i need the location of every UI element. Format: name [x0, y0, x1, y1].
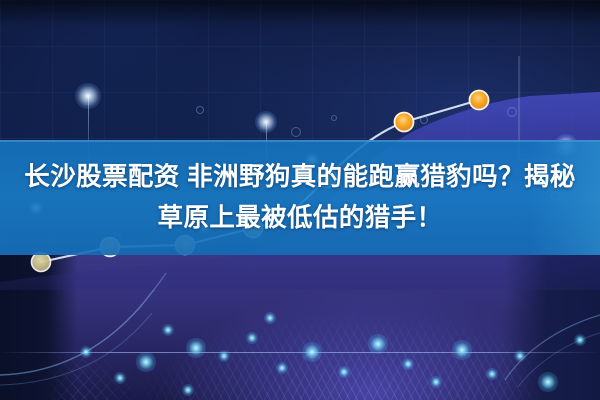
bubble-icon	[291, 127, 301, 137]
title-line-1: 长沙股票配资 非洲野狗真的能跑赢猎豹吗？揭秘	[24, 158, 575, 197]
bubble-icon	[420, 116, 428, 124]
bubble-icon	[507, 107, 517, 117]
bubble-icon	[196, 106, 204, 114]
title-line-2: 草原上最被低估的猎手！	[158, 199, 443, 238]
banner-image: 长沙股票配资 非洲野狗真的能跑赢猎豹吗？揭秘 草原上最被低估的猎手！	[0, 0, 600, 400]
banner-title: 长沙股票配资 非洲野狗真的能跑赢猎豹吗？揭秘 草原上最被低估的猎手！	[0, 140, 600, 255]
bubble-icon	[331, 115, 337, 121]
